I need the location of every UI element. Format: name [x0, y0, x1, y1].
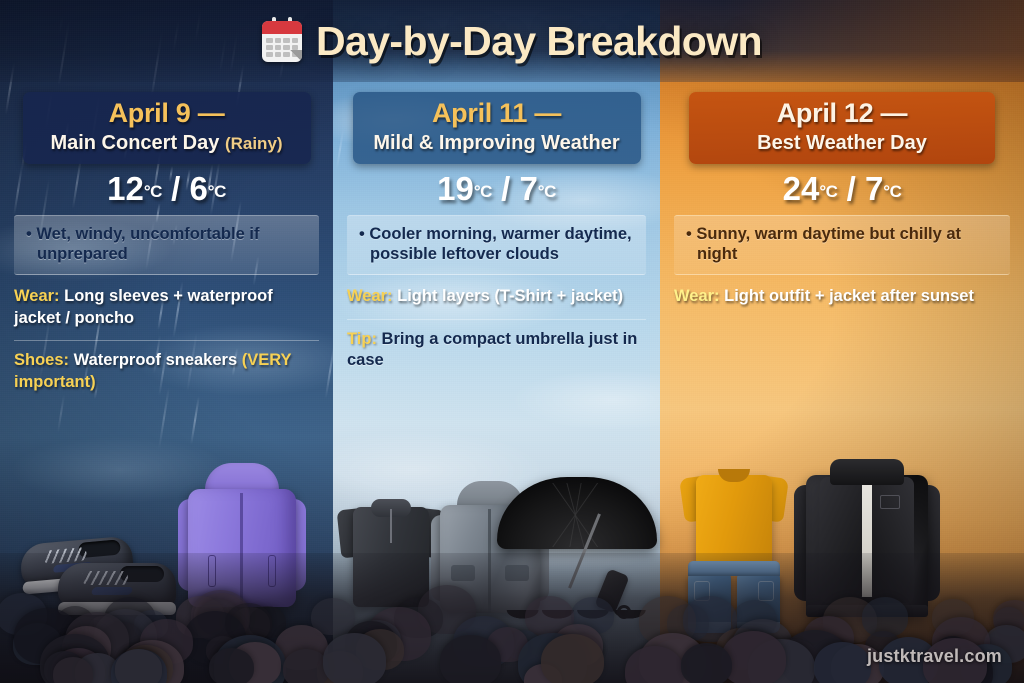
advice-wear: Wear: Light outfit + jacket after sunset — [674, 286, 1010, 307]
condition-bullet-text: Cooler morning, warmer daytime, possible… — [369, 225, 631, 264]
day-subtitle: Main Concert Day (Rainy) — [33, 131, 301, 155]
temp-low: 7 — [519, 170, 537, 207]
condition-bullet-text: Sunny, warm daytime but chilly at night — [696, 225, 961, 264]
advice-wear: Wear: Long sleeves + waterproof jacket /… — [14, 286, 319, 329]
infographic-poster: Day-by-Day Breakdown April 9 — Main Conc… — [0, 0, 1024, 683]
page-title: Day-by-Day Breakdown — [316, 18, 762, 65]
advice-text: Waterproof sneakers — [74, 351, 238, 369]
day-subtitle: Best Weather Day — [699, 131, 985, 155]
temperature-range: 19°C / 7°C — [333, 172, 660, 205]
temperature-range: 12°C / 6°C — [0, 172, 333, 205]
condition-bullet: • Cooler morning, warmer daytime, possib… — [359, 224, 640, 266]
advice-label: Tip: — [347, 330, 377, 348]
advice-text: Bring a compact umbrella just in case — [347, 330, 637, 369]
watermark-url: justktravel.com — [867, 646, 1002, 667]
day-subtitle: Mild & Improving Weather — [363, 131, 631, 155]
temp-unit-high: °C — [474, 182, 492, 201]
condition-bullet-band: • Wet, windy, uncomfortable if unprepare… — [14, 215, 319, 276]
condition-bullet: • Wet, windy, uncomfortable if unprepare… — [26, 224, 313, 266]
advice-tip: Tip: Bring a compact umbrella just in ca… — [347, 319, 646, 372]
condition-bullet-text: Wet, windy, uncomfortable if unprepared — [36, 225, 259, 264]
condition-bullet-band: • Sunny, warm daytime but chilly at nigh… — [674, 215, 1010, 276]
day-date: April 9 — — [33, 99, 301, 129]
day-date: April 11 — — [363, 99, 631, 129]
advice-label: Wear: — [14, 287, 60, 305]
condition-bullet: • Sunny, warm daytime but chilly at nigh… — [686, 224, 1004, 266]
temp-unit-low: °C — [883, 182, 901, 201]
advice-wear: Wear: Light layers (T-Shirt + jacket) — [347, 286, 646, 307]
temp-unit-high: °C — [144, 182, 162, 201]
temp-unit-low: °C — [208, 182, 226, 201]
t-shirt-icon — [682, 469, 786, 565]
temperature-range: 24°C / 7°C — [660, 172, 1024, 205]
temp-unit-high: °C — [819, 182, 837, 201]
temp-low: 6 — [189, 170, 207, 207]
temp-high: 19 — [437, 170, 474, 207]
advice-label: Wear: — [347, 287, 393, 305]
temp-high: 12 — [107, 170, 144, 207]
day-header-april-9: April 9 — Main Concert Day (Rainy) — [23, 92, 311, 164]
calendar-icon — [262, 21, 302, 62]
condition-bullet-band: • Cooler morning, warmer daytime, possib… — [347, 215, 646, 276]
temp-unit-low: °C — [538, 182, 556, 201]
header: Day-by-Day Breakdown — [0, 12, 1024, 70]
day-subtitle-text: Main Concert Day — [50, 132, 219, 154]
advice-text: Light outfit + jacket after sunset — [724, 287, 974, 305]
day-subtitle-paren: (Rainy) — [225, 134, 283, 153]
advice-shoes: Shoes: Waterproof sneakers (VERY importa… — [14, 340, 319, 393]
advice-text: Light layers (T-Shirt + jacket) — [397, 287, 623, 305]
day-date: April 12 — — [699, 99, 985, 129]
temp-high: 24 — [783, 170, 820, 207]
day-header-april-12: April 12 — Best Weather Day — [689, 92, 995, 164]
advice-label: Wear: — [674, 287, 720, 305]
day-header-april-11: April 11 — Mild & Improving Weather — [353, 92, 641, 164]
temp-low: 7 — [865, 170, 883, 207]
advice-label: Shoes: — [14, 351, 69, 369]
